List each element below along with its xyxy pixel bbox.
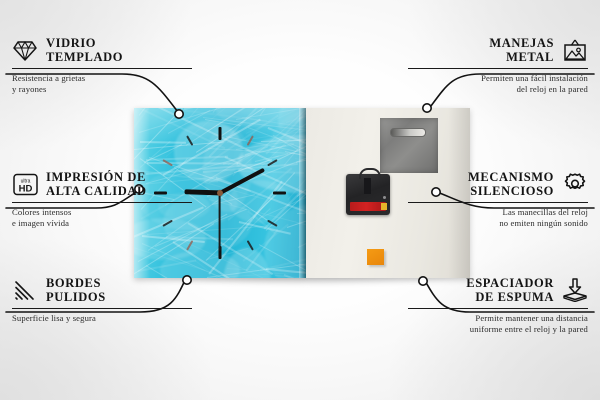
foam-spacer (367, 249, 384, 265)
callout-header: BORDES PULIDOS (12, 276, 212, 304)
callout-mecanismo-silencioso[interactable]: MECANISMO SILENCIOSO Las manecillas del … (388, 170, 588, 229)
callout-header: VIDRIO TEMPLADO (12, 36, 212, 64)
mechanism-shaft (364, 178, 371, 194)
mechanism-screw (383, 196, 386, 199)
battery-terminal (381, 203, 387, 210)
clock-center-pin (217, 190, 223, 196)
callout-divider (12, 308, 192, 309)
clock-hour-mark (247, 135, 254, 146)
callout-title: VIDRIO TEMPLADO (46, 36, 123, 64)
callout-divider (12, 68, 192, 69)
foam-spacer-icon (562, 278, 588, 302)
infographic-canvas: VIDRIO TEMPLADO Resistencia a grietas y … (0, 0, 600, 400)
clock-hour-mark (219, 127, 222, 140)
callout-divider (12, 202, 192, 203)
diamond-icon (12, 38, 38, 62)
callout-subtitle-line1: Permite mantener una distancia (388, 313, 588, 324)
callout-divider (408, 68, 588, 69)
svg-text:HD: HD (18, 183, 32, 194)
callout-title: ESPACIADOR DE ESPUMA (466, 276, 554, 304)
callout-title: BORDES PULIDOS (46, 276, 106, 304)
callout-espaciador-de-espuma[interactable]: ESPACIADOR DE ESPUMA Permite mantener un… (388, 276, 588, 335)
callout-header: MECANISMO SILENCIOSO (388, 170, 588, 198)
callout-subtitle-line2: no emiten ningún sonido (388, 218, 588, 229)
callout-divider (408, 308, 588, 309)
clock-mechanism (346, 174, 390, 215)
callout-subtitle-line2: e imagen vívida (12, 218, 212, 229)
callout-subtitle-line1: Superficie lisa y segura (12, 313, 212, 324)
clock-hour-mark (267, 220, 278, 227)
callout-vidrio-templado[interactable]: VIDRIO TEMPLADO Resistencia a grietas y … (12, 36, 212, 95)
metal-hanger-plate (380, 118, 438, 173)
gear-icon (562, 172, 588, 196)
callout-header: ESPACIADOR DE ESPUMA (388, 276, 588, 304)
callout-subtitle-line2: del reloj en la pared (388, 84, 588, 95)
clock-hour-mark (186, 135, 193, 146)
callout-subtitle-line2: uniforme entre el reloj y la pared (388, 324, 588, 335)
callout-title: IMPRESIÓN DE ALTA CALIDAD (46, 170, 147, 198)
ultra-hd-icon: ultra HD (12, 172, 38, 196)
callout-impresion-alta-calidad[interactable]: ultra HD IMPRESIÓN DE ALTA CALIDAD Color… (12, 170, 212, 229)
clock-hour-mark (247, 240, 254, 251)
callout-header: MANEJAS METAL (388, 36, 588, 64)
callout-divider (408, 202, 588, 203)
clock-second-hand (219, 193, 221, 251)
clock-hour-mark (267, 159, 278, 166)
callout-subtitle-line2: y rayones (12, 84, 212, 95)
glass-right-edge (299, 108, 306, 278)
polished-edges-icon (12, 278, 38, 302)
clock-hour-mark (186, 240, 193, 251)
picture-frame-hanger-icon (562, 38, 588, 62)
clock-hour-mark (162, 159, 173, 166)
battery (350, 202, 386, 211)
clock-minute-hand (219, 168, 265, 195)
callout-subtitle-line1: Colores intensos (12, 207, 212, 218)
callout-bordes-pulidos[interactable]: BORDES PULIDOS Superficie lisa y segura (12, 276, 212, 324)
callout-header: ultra HD IMPRESIÓN DE ALTA CALIDAD (12, 170, 212, 198)
callout-title: MECANISMO SILENCIOSO (468, 170, 554, 198)
callout-subtitle-line1: Permiten una fácil instalación (388, 73, 588, 84)
callout-manejas-metal[interactable]: MANEJAS METAL Permiten una fácil instala… (388, 36, 588, 95)
hanger-slot (390, 128, 426, 137)
callout-title: MANEJAS METAL (489, 36, 554, 64)
clock-hour-mark (273, 192, 286, 195)
callout-subtitle-line1: Las manecillas del reloj (388, 207, 588, 218)
callout-subtitle-line1: Resistencia a grietas (12, 73, 212, 84)
